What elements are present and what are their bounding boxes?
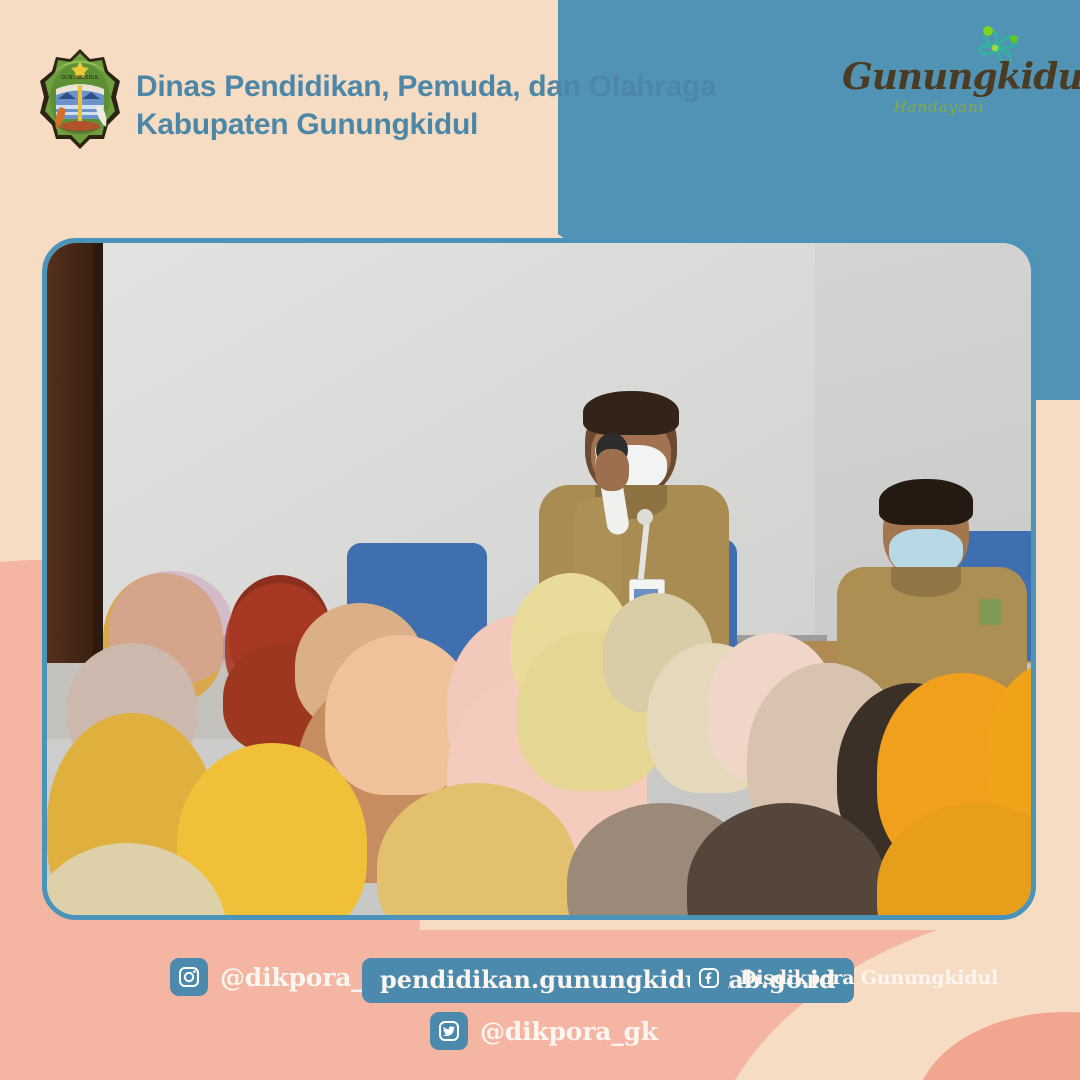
coat-of-arms-icon: GUNUNGKIDUL: [38, 47, 122, 151]
twitter-icon[interactable]: [430, 1012, 468, 1050]
header: GUNUNGKIDUL Dinas Pendidikan, Pemuda, da…: [0, 0, 1080, 200]
facebook-icon[interactable]: [690, 959, 728, 997]
poster-canvas: GUNUNGKIDUL Dinas Pendidikan, Pemuda, da…: [0, 0, 1080, 1080]
brand-tagline: Handayani: [854, 98, 1024, 116]
door-left: [47, 243, 93, 663]
event-photo: [42, 238, 1036, 920]
twitter-handle: @dikpora_gk: [480, 1017, 658, 1046]
facebook-row[interactable]: Disdikpora Gunungkidul: [690, 959, 998, 997]
facebook-page: Disdikpora Gunungkidul: [740, 967, 998, 989]
page-title: Dinas Pendidikan, Pemuda, dan Olahraga K…: [136, 68, 716, 145]
brand-wordmark: Gunungkidul: [842, 56, 1032, 98]
twitter-row[interactable]: @dikpora_gk: [430, 1012, 658, 1050]
svg-text:GUNUNGKIDUL: GUNUNGKIDUL: [61, 75, 99, 81]
footer: @dikpora_gk pendidikan.gunungkidulkab.go…: [0, 930, 1080, 1080]
gunungkidul-brand-logo: Gunungkidul Handayani: [842, 22, 1062, 132]
instagram-icon[interactable]: [170, 958, 208, 996]
door-edge: [93, 243, 103, 663]
seated-official-figure: [837, 483, 1027, 683]
photo-content: [47, 243, 1031, 915]
